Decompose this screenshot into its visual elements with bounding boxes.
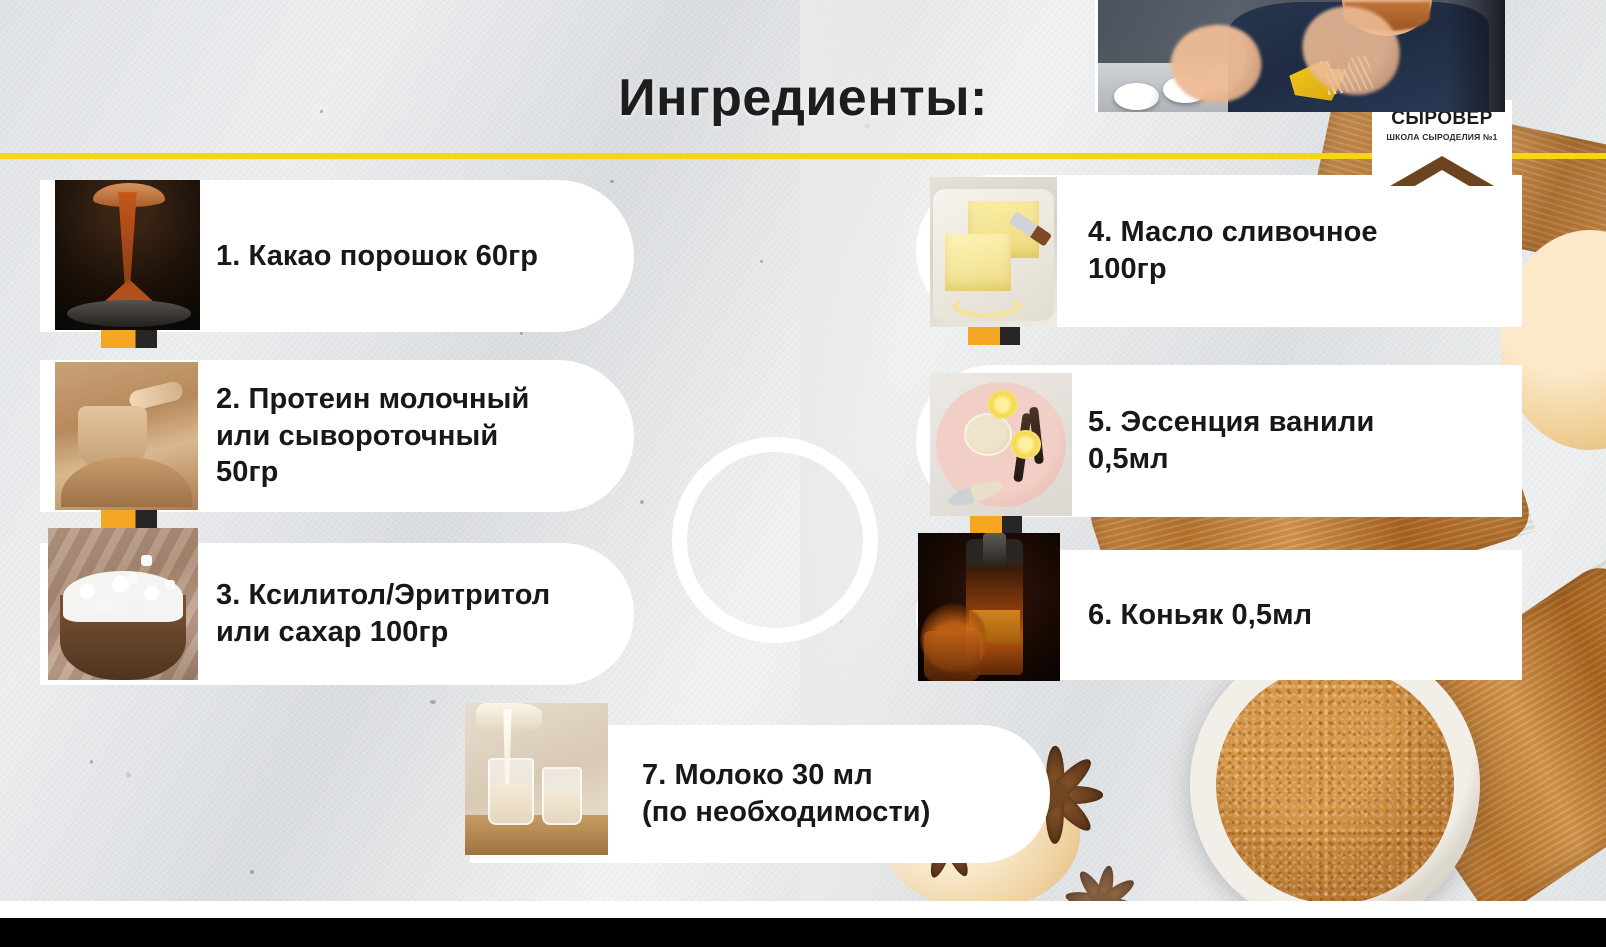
webcam-bowl-1 bbox=[1114, 83, 1159, 110]
player-bottom-bar bbox=[0, 918, 1606, 947]
ingredient-thumbnail-tab-4 bbox=[968, 327, 1020, 345]
presentation-slide: Ингредиенты: 1. Какао порошок 60гр 2. Пр… bbox=[0, 0, 1606, 901]
ingredient-thumbnail-2 bbox=[55, 362, 198, 510]
ingredient-label-7: 7. Молоко 30 мл (по необходимости) bbox=[642, 757, 931, 830]
ingredient-thumbnail-1 bbox=[55, 180, 200, 330]
ingredient-thumbnail-3 bbox=[48, 528, 198, 680]
presenter-webcam-overlay[interactable] bbox=[1095, 0, 1505, 112]
brand-logo-panel: СЫРОВЕР ШКОЛА СЫРОДЕЛИЯ №1 bbox=[1372, 100, 1512, 190]
ingredient-thumbnail-tab-5 bbox=[970, 516, 1022, 534]
ingredient-label-1: 1. Какао порошок 60гр bbox=[216, 238, 538, 275]
ingredient-label-3: 3. Ксилитол/Эритритол или сахар 100гр bbox=[216, 577, 550, 650]
ingredient-label-6: 6. Коньяк 0,5мл bbox=[1088, 597, 1312, 634]
ingredient-label-5: 5. Эссенция ванили 0,5мл bbox=[1088, 404, 1374, 477]
star-anise-3 bbox=[1060, 860, 1145, 901]
ingredient-thumbnail-5 bbox=[930, 373, 1072, 516]
webcam-edge-shadow bbox=[1448, 0, 1505, 112]
ingredient-thumbnail-6 bbox=[918, 533, 1060, 681]
screen: Ингредиенты: 1. Какао порошок 60гр 2. Пр… bbox=[0, 0, 1606, 947]
brown-sugar-fill bbox=[1216, 666, 1454, 901]
ingredient-thumbnail-tab-2 bbox=[101, 510, 157, 528]
ingredient-thumbnail-7 bbox=[465, 703, 608, 855]
slide-bottom-strip bbox=[0, 901, 1606, 918]
ingredient-label-2: 2. Протеин молочный или сывороточный 50г… bbox=[216, 381, 529, 491]
brand-mark-cutout-icon bbox=[1408, 170, 1476, 190]
ingredient-thumbnail-4 bbox=[930, 177, 1057, 327]
ingredient-thumbnail-tab-1 bbox=[101, 330, 157, 348]
decorative-ring bbox=[672, 437, 878, 643]
ingredient-label-4: 4. Масло сливочное 100гр bbox=[1088, 214, 1378, 287]
accent-divider bbox=[0, 153, 1606, 159]
brand-tagline: ШКОЛА СЫРОДЕЛИЯ №1 bbox=[1372, 132, 1512, 142]
